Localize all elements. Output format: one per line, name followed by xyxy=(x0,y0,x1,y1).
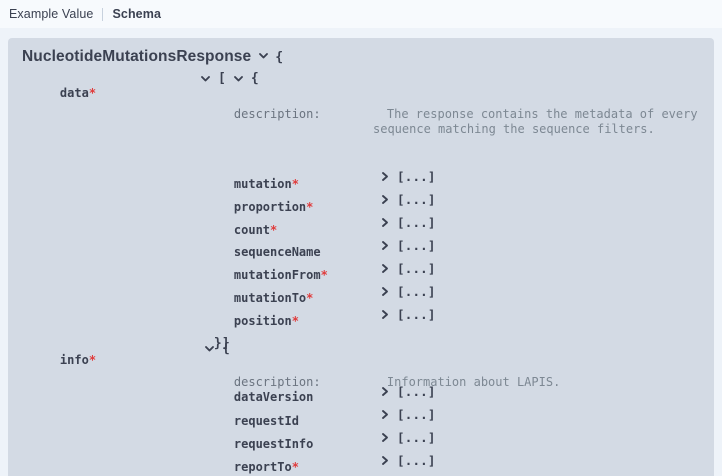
required-marker: * xyxy=(306,291,313,305)
info-close-brace: } xyxy=(196,465,218,476)
field-expander[interactable]: [...] xyxy=(380,261,436,276)
field-expander[interactable]: [...] xyxy=(380,430,436,445)
expander-dots: [...] xyxy=(397,215,436,230)
field-expander[interactable]: [...] xyxy=(380,453,436,468)
data-description-value: The response contains the metadata of ev… xyxy=(373,92,703,152)
chevron-down-icon[interactable] xyxy=(204,343,215,354)
root-open-brace: { xyxy=(275,50,283,65)
field-expander[interactable]: [...] xyxy=(380,384,436,399)
tab-separator xyxy=(102,8,103,21)
required-marker: * xyxy=(292,460,299,474)
chevron-right-icon[interactable] xyxy=(380,240,390,251)
chevron-right-icon[interactable] xyxy=(380,217,390,228)
chevron-right-icon[interactable] xyxy=(380,194,390,205)
expander-dots: [...] xyxy=(397,407,436,422)
chevron-right-icon[interactable] xyxy=(380,455,390,466)
expander-dots: [...] xyxy=(397,169,436,184)
info-object-toggle-row[interactable]: { xyxy=(204,341,230,356)
data-description-key: description: xyxy=(220,92,321,137)
field-label: position* xyxy=(220,299,299,344)
expander-dots: [...] xyxy=(397,453,436,468)
required-marker: * xyxy=(89,353,96,367)
chevron-down-icon[interactable] xyxy=(200,73,211,84)
expander-dots: [...] xyxy=(397,284,436,299)
field-expander[interactable]: [...] xyxy=(380,238,436,253)
chevron-right-icon[interactable] xyxy=(380,171,390,182)
expander-dots: [...] xyxy=(397,384,436,399)
property-info-label: info* xyxy=(46,338,96,383)
chevron-right-icon[interactable] xyxy=(380,409,390,420)
property-data-label: data* xyxy=(46,71,96,116)
required-marker: * xyxy=(292,314,299,328)
field-label: reportTo* xyxy=(220,445,299,476)
field-expander[interactable]: [...] xyxy=(380,169,436,184)
chevron-right-icon[interactable] xyxy=(380,386,390,397)
field-expander[interactable]: [...] xyxy=(380,407,436,422)
chevron-right-icon[interactable] xyxy=(380,432,390,443)
expander-dots: [...] xyxy=(397,192,436,207)
chevron-right-icon[interactable] xyxy=(380,263,390,274)
property-name: info xyxy=(60,353,89,367)
schema-tab-bar: Example Value Schema xyxy=(0,0,722,28)
property-name: data xyxy=(60,86,89,100)
page-title: NucleotideMutationsResponse xyxy=(22,48,251,66)
expander-dots: [...] xyxy=(397,307,436,322)
chevron-right-icon[interactable] xyxy=(380,286,390,297)
field-expander[interactable]: [...] xyxy=(380,284,436,299)
data-array-toggle-row[interactable]: [ { xyxy=(200,71,259,86)
chevron-right-icon[interactable] xyxy=(380,309,390,320)
tab-schema[interactable]: Schema xyxy=(112,7,161,21)
schema-panel: NucleotideMutationsResponse { data* [ { … xyxy=(8,38,714,476)
required-marker: * xyxy=(306,200,313,214)
object-open-brace: { xyxy=(222,341,230,356)
expander-dots: [...] xyxy=(397,238,436,253)
expander-dots: [...] xyxy=(397,261,436,276)
field-expander[interactable]: [...] xyxy=(380,192,436,207)
expander-dots: [...] xyxy=(397,430,436,445)
required-marker: * xyxy=(89,86,96,100)
array-open-bracket: [ xyxy=(218,71,226,86)
chevron-down-icon[interactable] xyxy=(258,50,269,61)
required-marker: * xyxy=(321,268,328,282)
model-title-row[interactable]: NucleotideMutationsResponse { xyxy=(8,48,714,72)
chevron-down-icon[interactable] xyxy=(233,73,244,84)
field-expander[interactable]: [...] xyxy=(380,215,436,230)
field-expander[interactable]: [...] xyxy=(380,307,436,322)
object-open-brace: { xyxy=(251,71,259,86)
tab-example-value[interactable]: Example Value xyxy=(9,7,93,21)
